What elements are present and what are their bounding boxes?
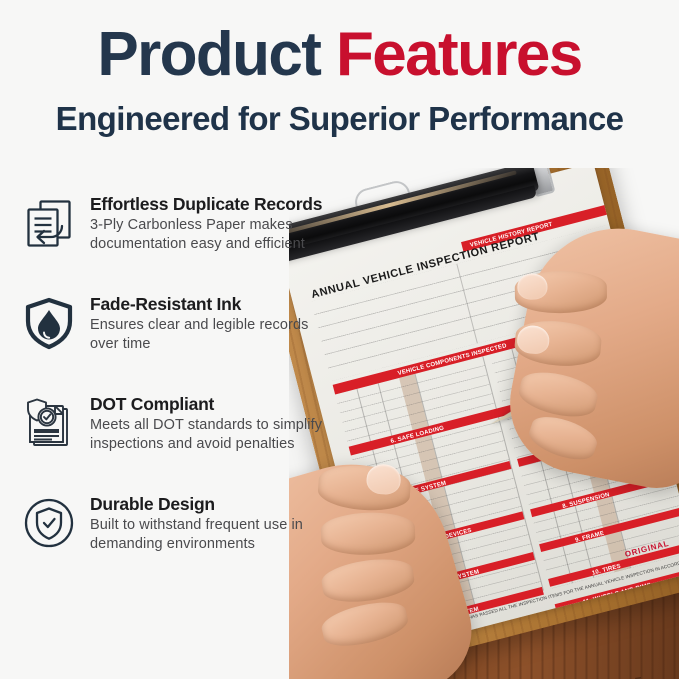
feature-description: Meets all DOT standards to simplify insp… bbox=[90, 414, 340, 453]
feature-text: Effortless Duplicate Records 3-Ply Carbo… bbox=[90, 190, 340, 253]
feature-text: Durable Design Built to withstand freque… bbox=[90, 490, 340, 553]
feature-title: Effortless Duplicate Records bbox=[90, 194, 340, 214]
left-ring-finger bbox=[320, 554, 417, 606]
clipboard-engraving-text: BUCK U. bbox=[474, 667, 660, 679]
page-title-part-1: Product bbox=[97, 20, 320, 89]
feature-title: Durable Design bbox=[90, 494, 340, 514]
page-subtitle: Engineered for Superior Performance bbox=[0, 86, 679, 135]
duplicate-documents-icon bbox=[18, 192, 80, 254]
feature-title: Fade-Resistant Ink bbox=[90, 294, 340, 314]
shield-ink-drop-icon bbox=[18, 292, 80, 354]
feature-description: Ensures clear and legible records over t… bbox=[90, 314, 340, 353]
page-title: Product Features bbox=[0, 0, 679, 86]
feature-description: 3-Ply Carbonless Paper makes documentati… bbox=[90, 214, 340, 253]
feature-list: Effortless Duplicate Records 3-Ply Carbo… bbox=[18, 190, 348, 554]
feature-text: Fade-Resistant Ink Ensures clear and leg… bbox=[90, 290, 340, 353]
shield-check-circle-icon bbox=[18, 492, 80, 554]
feature-item: DOT Compliant Meets all DOT standards to… bbox=[18, 390, 348, 490]
left-little-finger bbox=[319, 596, 411, 652]
feature-item: Fade-Resistant Ink Ensures clear and leg… bbox=[18, 290, 348, 390]
right-index-fingernail bbox=[517, 273, 547, 300]
certified-document-shield-icon bbox=[18, 392, 80, 454]
feature-title: DOT Compliant bbox=[90, 394, 340, 414]
right-ring-finger bbox=[516, 366, 601, 423]
feature-item: Durable Design Built to withstand freque… bbox=[18, 490, 348, 554]
right-little-finger bbox=[525, 410, 601, 466]
feature-item: Effortless Duplicate Records 3-Ply Carbo… bbox=[18, 190, 348, 290]
header: Product Features Engineered for Superior… bbox=[0, 0, 679, 135]
feature-description: Built to withstand frequent use in deman… bbox=[90, 514, 340, 553]
product-features-banner: Product Features Engineered for Superior… bbox=[0, 0, 679, 679]
feature-text: DOT Compliant Meets all DOT standards to… bbox=[90, 390, 340, 453]
page-title-part-2: Features bbox=[336, 20, 582, 89]
